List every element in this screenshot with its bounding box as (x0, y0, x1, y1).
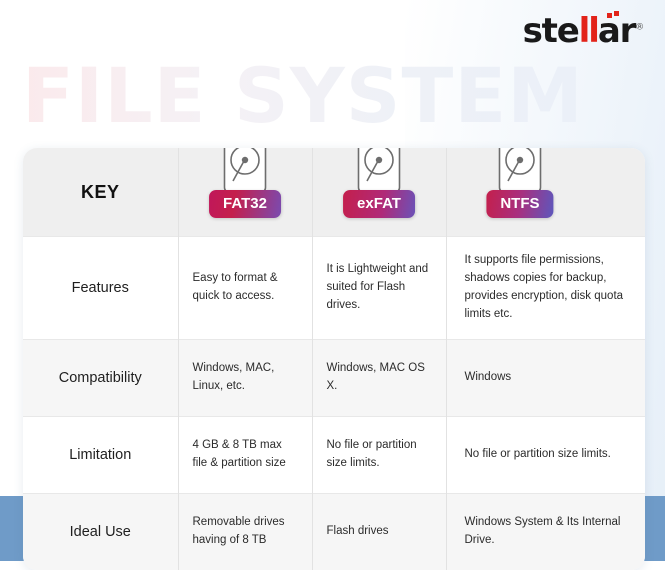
table-row: Features Easy to format & quick to acces… (23, 237, 645, 340)
row-label-ideal-use: Ideal Use (23, 494, 178, 570)
key-header-cell: KEY (23, 148, 178, 237)
logo-dots-icon (607, 11, 621, 19)
cell-ideal-use-fat32: Removable drives having of 8 TB (178, 494, 312, 570)
column-header-ntfs: NTFS (446, 148, 645, 237)
cell-compatibility-ntfs: Windows (446, 340, 645, 417)
cell-features-fat32: Easy to format & quick to access. (178, 237, 312, 340)
table-row: Compatibility Windows, MAC, Linux, etc. … (23, 340, 645, 417)
cell-features-exfat: It is Lightweight and suited for Flash d… (312, 237, 446, 340)
badge-ntfs: NTFS (486, 190, 553, 218)
watermark-title: FILE SYSTEM (22, 58, 662, 134)
logo-registered-mark: ® (635, 23, 643, 33)
cell-ideal-use-ntfs: Windows System & Its Internal Drive. (446, 494, 645, 570)
logo-text-pre: ste (523, 11, 579, 51)
column-header-exfat: exFAT (312, 148, 446, 237)
comparison-card: KEY FAT32 (23, 148, 645, 570)
logo-text-mark: ll (579, 11, 598, 51)
cell-ideal-use-exfat: Flash drives (312, 494, 446, 570)
cell-compatibility-exfat: Windows, MAC OS X. (312, 340, 446, 417)
key-label: KEY (81, 182, 120, 202)
cell-limitation-exfat: No file or partition size limits. (312, 417, 446, 494)
table-row: Limitation 4 GB & 8 TB max file & partit… (23, 417, 645, 494)
cell-limitation-fat32: 4 GB & 8 TB max file & partition size (178, 417, 312, 494)
row-label-limitation: Limitation (23, 417, 178, 494)
file-system-comparison-table: KEY FAT32 (23, 148, 645, 570)
row-label-compatibility: Compatibility (23, 340, 178, 417)
row-label-features: Features (23, 237, 178, 340)
badge-fat32: FAT32 (209, 190, 281, 218)
stellar-logo: stellar® (523, 14, 643, 48)
table-row: Ideal Use Removable drives having of 8 T… (23, 494, 645, 570)
table-header-row: KEY FAT32 (23, 148, 645, 237)
badge-exfat: exFAT (343, 190, 415, 218)
cell-features-ntfs: It supports file permissions, shadows co… (446, 237, 645, 340)
column-header-fat32: FAT32 (178, 148, 312, 237)
cell-limitation-ntfs: No file or partition size limits. (446, 417, 645, 494)
cell-compatibility-fat32: Windows, MAC, Linux, etc. (178, 340, 312, 417)
